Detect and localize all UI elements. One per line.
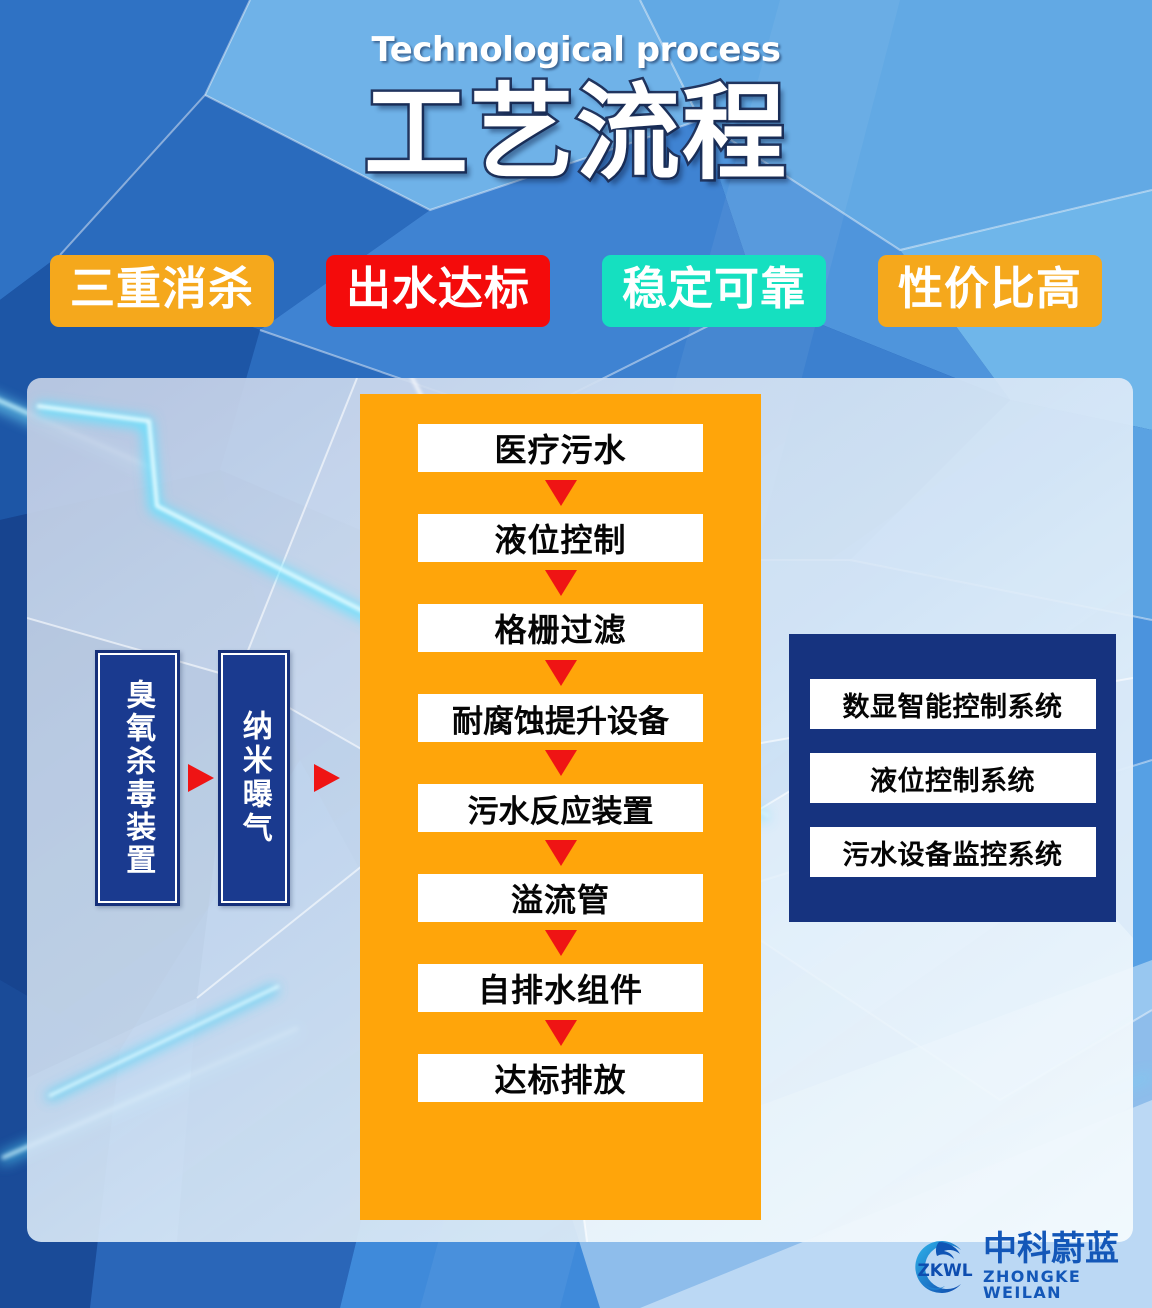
logo-name-en: ZHONGKE WEILAN bbox=[983, 1269, 1152, 1301]
pretreatment-box-ozone-inner: 臭氧杀毒装置 bbox=[98, 653, 177, 903]
company-logo: ZKWL 中科蔚蓝 ZHONGKE WEILAN bbox=[905, 1232, 1152, 1301]
pretreatment-box-nano-aeration[interactable]: 纳米曝气 bbox=[218, 650, 290, 906]
pretreatment-box-ozone[interactable]: 臭氧杀毒装置 bbox=[95, 650, 180, 906]
feature-badge-3[interactable]: 稳定可靠 bbox=[602, 255, 826, 327]
dolphin-swoosh-icon: ZKWL bbox=[905, 1236, 977, 1298]
triangle-down-icon-4 bbox=[545, 750, 577, 776]
triangle-down-icon-5 bbox=[545, 840, 577, 866]
flow-step-6[interactable]: 溢流管 bbox=[418, 874, 703, 922]
feature-badge-2-label: 出水达标 bbox=[346, 263, 530, 314]
pretreatment-box-nano-aeration-label: 纳米曝气 bbox=[238, 710, 270, 846]
triangle-down-icon-3 bbox=[545, 660, 577, 686]
flow-step-7[interactable]: 自排水组件 bbox=[418, 964, 703, 1012]
feature-badge-list: 三重消杀 出水达标 稳定可靠 性价比高 bbox=[0, 255, 1152, 335]
feature-badge-4-label: 性价比高 bbox=[898, 263, 1082, 314]
system-item-2[interactable]: 液位控制系统 bbox=[810, 753, 1096, 803]
pretreatment-box-nano-aeration-inner: 纳米曝气 bbox=[221, 653, 287, 903]
triangle-right-icon-2 bbox=[314, 764, 340, 792]
triangle-right-icon-1 bbox=[188, 764, 214, 792]
feature-badge-2[interactable]: 出水达标 bbox=[326, 255, 550, 327]
feature-badge-1[interactable]: 三重消杀 bbox=[50, 255, 274, 327]
feature-badge-4[interactable]: 性价比高 bbox=[878, 255, 1102, 327]
feature-badge-1-label: 三重消杀 bbox=[70, 263, 254, 314]
system-item-1[interactable]: 数显智能控制系统 bbox=[810, 679, 1096, 729]
system-item-3[interactable]: 污水设备监控系统 bbox=[810, 827, 1096, 877]
flow-step-8[interactable]: 达标排放 bbox=[418, 1054, 703, 1102]
page-header: Technological process 工艺流程 bbox=[0, 0, 1152, 240]
flow-step-1[interactable]: 医疗污水 bbox=[418, 424, 703, 472]
logo-name-cn: 中科蔚蓝 bbox=[983, 1232, 1152, 1266]
triangle-down-icon-2 bbox=[545, 570, 577, 596]
page-title: 工艺流程 bbox=[0, 80, 1152, 189]
flow-step-5[interactable]: 污水反应装置 bbox=[418, 784, 703, 832]
process-flow-container: 医疗污水 液位控制 格栅过滤 耐腐蚀提升设备 污水反应装置 溢流管 自排水组件 … bbox=[360, 394, 761, 1220]
flow-step-4[interactable]: 耐腐蚀提升设备 bbox=[418, 694, 703, 742]
flow-step-2[interactable]: 液位控制 bbox=[418, 514, 703, 562]
flow-step-3[interactable]: 格栅过滤 bbox=[418, 604, 703, 652]
logo-wordmark: 中科蔚蓝 ZHONGKE WEILAN bbox=[983, 1232, 1152, 1301]
triangle-down-icon-7 bbox=[545, 1020, 577, 1046]
triangle-down-icon-1 bbox=[545, 480, 577, 506]
feature-badge-3-label: 稳定可靠 bbox=[622, 263, 806, 314]
svg-text:ZKWL: ZKWL bbox=[917, 1261, 972, 1281]
header-eyebrow: Technological process bbox=[0, 30, 1152, 70]
pretreatment-box-ozone-label: 臭氧杀毒装置 bbox=[122, 679, 154, 877]
triangle-down-icon-6 bbox=[545, 930, 577, 956]
control-systems-panel: 数显智能控制系统 液位控制系统 污水设备监控系统 bbox=[789, 634, 1116, 922]
